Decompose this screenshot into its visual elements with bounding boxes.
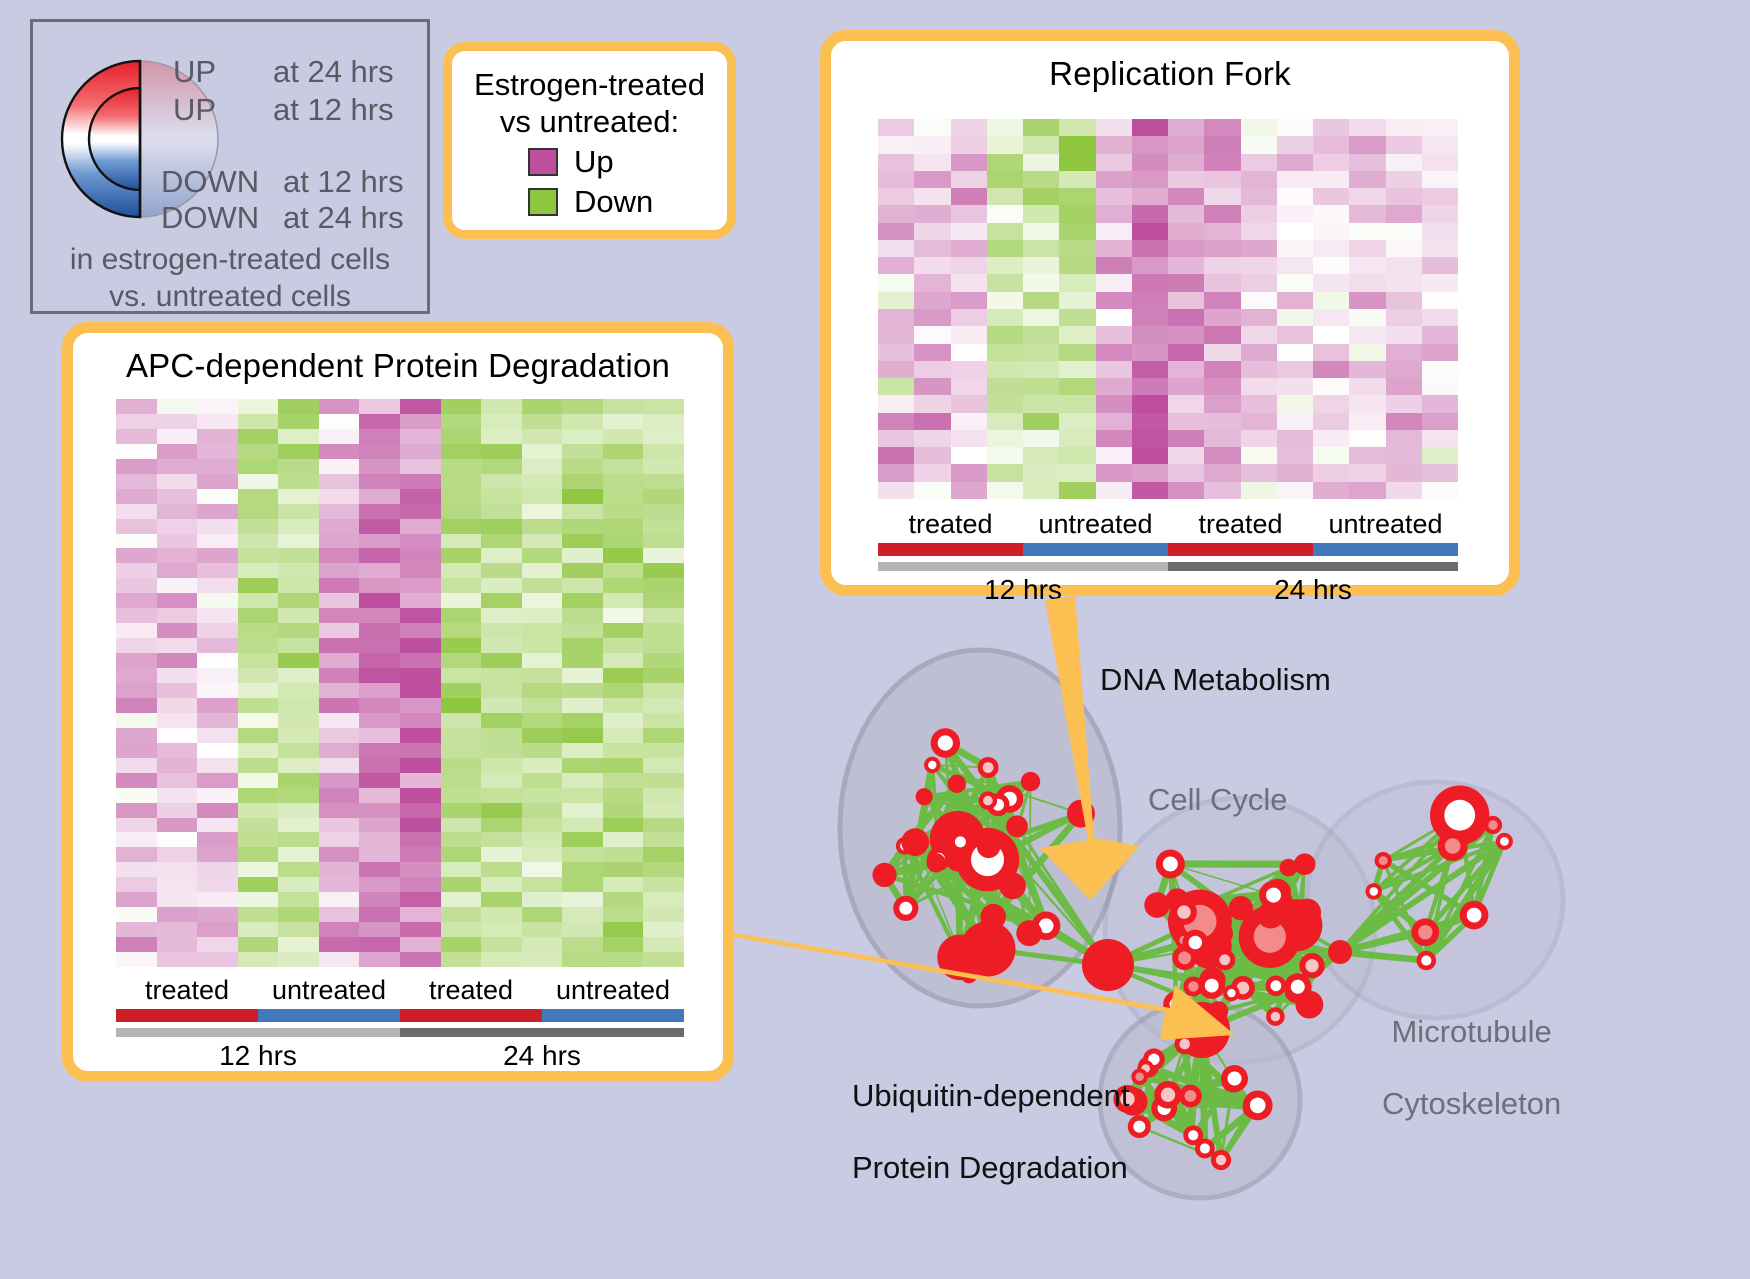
- heatmap-cell: [359, 743, 400, 758]
- heatmap-cell: [522, 877, 563, 892]
- heatmap-cell: [400, 578, 441, 593]
- heatmap-cell: [951, 136, 987, 153]
- network-node[interactable]: [1067, 800, 1095, 828]
- heatmap-cell: [951, 223, 987, 240]
- heatmap-cell: [603, 788, 644, 803]
- heatmap-cell: [643, 743, 684, 758]
- heatmap-cell: [1132, 240, 1168, 257]
- heatmap-cell: [1096, 292, 1132, 309]
- bar-untreated-24: [542, 1009, 684, 1022]
- heatmap-cell: [522, 788, 563, 803]
- heatmap-cell: [400, 399, 441, 414]
- heatmap-cell: [278, 743, 319, 758]
- heatmap-cell: [319, 593, 360, 608]
- heatmap-cell: [319, 832, 360, 847]
- heatmap-cell: [400, 892, 441, 907]
- heatmap-cell: [278, 832, 319, 847]
- heatmap-cell: [319, 818, 360, 833]
- heatmap-cell: [878, 344, 914, 361]
- heatmap-cell: [914, 447, 950, 464]
- heatmap-cell: [1313, 430, 1349, 447]
- heatmap-cell: [1204, 413, 1240, 430]
- heatmap-cell: [1349, 257, 1385, 274]
- bar-treated-24: [400, 1009, 542, 1022]
- heatmap-cell: [562, 623, 603, 638]
- network-node[interactable]: [1021, 772, 1040, 791]
- network-node[interactable]: [1016, 920, 1042, 946]
- network-node[interactable]: [948, 775, 966, 793]
- heatmap-cell: [562, 534, 603, 549]
- heatmap-cell: [562, 713, 603, 728]
- heatmap-cell: [441, 683, 482, 698]
- heatmap-cell: [197, 877, 238, 892]
- heatmap-cell: [1349, 274, 1385, 291]
- heatmap-cell: [914, 309, 950, 326]
- heatmap-cell: [1313, 257, 1349, 274]
- heatmap-cell: [951, 171, 987, 188]
- heatmap-cell: [481, 534, 522, 549]
- heatmap-cell: [278, 548, 319, 563]
- network-node-core: [1188, 1130, 1198, 1140]
- heatmap-cell: [441, 489, 482, 504]
- heatmap-cell: [1349, 171, 1385, 188]
- heatmap-cell: [522, 593, 563, 608]
- heatmap-cell: [522, 534, 563, 549]
- network-node[interactable]: [961, 967, 977, 983]
- network-node[interactable]: [1082, 939, 1134, 991]
- heatmap-cell: [987, 326, 1023, 343]
- heatmap-cell: [643, 922, 684, 937]
- heatmap-cell: [603, 668, 644, 683]
- heatmap-cell: [1422, 309, 1458, 326]
- group-color-bar-apc: [116, 1009, 684, 1022]
- heatmap-cell: [238, 519, 279, 534]
- network-node[interactable]: [916, 788, 933, 805]
- heatmap-cell: [1168, 240, 1204, 257]
- heatmap-cell: [1096, 447, 1132, 464]
- heatmap-cell: [1349, 205, 1385, 222]
- heatmap-cell: [1059, 136, 1095, 153]
- heatmap-cell: [562, 474, 603, 489]
- heatmap-cell: [1313, 119, 1349, 136]
- ubiquitin-line-2: Protein Degradation: [852, 1150, 1130, 1186]
- network-node-core: [1216, 1155, 1226, 1165]
- heatmap-cell: [1132, 205, 1168, 222]
- heatmap-cell: [157, 683, 198, 698]
- heatmap-cell: [643, 907, 684, 922]
- heatmap-cell: [481, 623, 522, 638]
- heatmap-cell: [522, 758, 563, 773]
- heatmap-cell: [481, 474, 522, 489]
- heatmap-cell: [441, 952, 482, 967]
- heatmap-cell: [400, 519, 441, 534]
- heatmap-cell: [1132, 464, 1168, 481]
- heatmap-cell: [1277, 326, 1313, 343]
- heatmap-cell: [522, 459, 563, 474]
- group-label-untreated-12: untreated: [258, 975, 400, 1006]
- heatmap-apc-dependent: [116, 399, 684, 967]
- heatmap-cell: [562, 489, 603, 504]
- heatmap-cell: [987, 274, 1023, 291]
- panel-title-apc: APC-dependent Protein Degradation: [73, 347, 723, 385]
- heatmap-cell: [319, 519, 360, 534]
- heatmap-cell: [643, 474, 684, 489]
- heatmap-cell: [441, 623, 482, 638]
- heatmap-cell: [1059, 464, 1095, 481]
- heatmap-cell: [1204, 395, 1240, 412]
- heatmap-cell: [1059, 205, 1095, 222]
- network-node-core: [1369, 887, 1378, 896]
- estrogen-color-legend-card: Estrogen-treated vs untreated: Up Down: [443, 42, 736, 239]
- heatmap-cell: [238, 399, 279, 414]
- heatmap-cell: [643, 713, 684, 728]
- heatmap-replication-fork: [878, 119, 1458, 499]
- heatmap-cell: [278, 877, 319, 892]
- heatmap-cell: [562, 444, 603, 459]
- heatmap-cell: [1277, 257, 1313, 274]
- heatmap-cell: [1277, 274, 1313, 291]
- heatmap-cell: [1059, 430, 1095, 447]
- heatmap-cell: [1313, 136, 1349, 153]
- heatmap-cell: [1422, 447, 1458, 464]
- heatmap-cell: [278, 608, 319, 623]
- estrogen-legend-title-line-1: Estrogen-treated: [452, 67, 727, 104]
- heatmap-cell: [400, 489, 441, 504]
- heatmap-cell: [562, 832, 603, 847]
- heatmap-cell: [643, 593, 684, 608]
- heatmap-cell: [951, 326, 987, 343]
- heatmap-cell: [1204, 205, 1240, 222]
- heatmap-cell: [1132, 119, 1168, 136]
- heatmap-cell: [481, 429, 522, 444]
- heatmap-cell: [278, 773, 319, 788]
- heatmap-cell: [197, 638, 238, 653]
- heatmap-cell: [1132, 223, 1168, 240]
- heatmap-cell: [1422, 344, 1458, 361]
- down-label: Down: [574, 184, 653, 220]
- heatmap-cell: [603, 922, 644, 937]
- heatmap-cell: [987, 447, 1023, 464]
- heatmap-cell: [1349, 344, 1385, 361]
- heatmap-cell: [603, 459, 644, 474]
- heatmap-cell: [603, 773, 644, 788]
- heatmap-cell: [1277, 188, 1313, 205]
- heatmap-cell: [951, 240, 987, 257]
- network-node[interactable]: [1208, 1001, 1228, 1021]
- network-node[interactable]: [1293, 899, 1321, 927]
- heatmap-cell: [1204, 223, 1240, 240]
- heatmap-cell: [643, 578, 684, 593]
- heatmap-cell: [1096, 119, 1132, 136]
- heatmap-cell: [319, 504, 360, 519]
- heatmap-cell: [400, 713, 441, 728]
- network-node[interactable]: [977, 835, 1001, 859]
- legend-time-down-12: at 12 hrs: [283, 164, 404, 200]
- heatmap-cell: [643, 608, 684, 623]
- heatmap-cell: [359, 803, 400, 818]
- legend-item-up: Up: [528, 144, 727, 180]
- heatmap-cell: [1132, 447, 1168, 464]
- heatmap-cell: [116, 399, 157, 414]
- network-node-core: [1445, 838, 1461, 854]
- cluster-label-ubiquitin-dependent-protein-degradation: Ubiquitin-dependent Protein Degradation: [852, 1042, 1130, 1222]
- bar-time-12: [116, 1028, 400, 1037]
- heatmap-cell: [1386, 136, 1422, 153]
- heatmap-cell: [400, 788, 441, 803]
- heatmap-cell: [441, 534, 482, 549]
- heatmap-cell: [603, 608, 644, 623]
- heatmap-cell: [1023, 274, 1059, 291]
- heatmap-cell: [278, 578, 319, 593]
- network-node[interactable]: [1294, 853, 1316, 875]
- heatmap-cell: [1096, 344, 1132, 361]
- heatmap-cell: [1168, 344, 1204, 361]
- heatmap-cell: [603, 489, 644, 504]
- panel-title-replication-fork: Replication Fork: [831, 55, 1509, 93]
- network-node[interactable]: [901, 828, 929, 856]
- heatmap-cell: [1132, 326, 1168, 343]
- heatmap-cell: [481, 788, 522, 803]
- heatmap-cell: [1349, 482, 1385, 499]
- heatmap-cell: [987, 136, 1023, 153]
- heatmap-cell: [878, 292, 914, 309]
- heatmap-cell: [278, 683, 319, 698]
- heatmap-cell: [157, 758, 198, 773]
- heatmap-cell: [319, 459, 360, 474]
- heatmap-cell: [359, 937, 400, 952]
- heatmap-cell: [1132, 309, 1168, 326]
- heatmap-cell: [197, 952, 238, 967]
- heatmap-cell: [522, 922, 563, 937]
- heatmap-cell: [603, 728, 644, 743]
- heatmap-cell: [238, 593, 279, 608]
- network-node-core: [1200, 1143, 1210, 1153]
- network-node[interactable]: [999, 872, 1026, 899]
- heatmap-cell: [1241, 447, 1277, 464]
- heatmap-cell: [197, 847, 238, 862]
- heatmap-cell: [951, 395, 987, 412]
- network-node[interactable]: [926, 853, 945, 872]
- heatmap-cell: [1096, 257, 1132, 274]
- heatmap-cell: [197, 818, 238, 833]
- heatmap-cell: [1277, 136, 1313, 153]
- heatmap-cell: [1023, 361, 1059, 378]
- heatmap-cell: [914, 119, 950, 136]
- heatmap-cell: [878, 205, 914, 222]
- heatmap-cell: [1386, 482, 1422, 499]
- heatmap-cell: [400, 548, 441, 563]
- heatmap-cell: [238, 728, 279, 743]
- heatmap-cell: [278, 459, 319, 474]
- legend-word-down-24: DOWN: [161, 200, 259, 236]
- heatmap-cell: [1313, 240, 1349, 257]
- heatmap-cell: [522, 803, 563, 818]
- heatmap-cell: [116, 907, 157, 922]
- heatmap-cell: [238, 459, 279, 474]
- network-node[interactable]: [1229, 896, 1253, 920]
- network-node[interactable]: [946, 849, 969, 872]
- heatmap-cell: [562, 773, 603, 788]
- time-color-bar-replication: [878, 562, 1458, 571]
- heatmap-cell: [278, 922, 319, 937]
- heatmap-cell: [914, 205, 950, 222]
- heatmap-cell: [522, 728, 563, 743]
- heatmap-cell: [197, 504, 238, 519]
- heatmap-cell: [987, 413, 1023, 430]
- heatmap-cell: [562, 593, 603, 608]
- heatmap-cell: [441, 548, 482, 563]
- heatmap-cell: [1349, 361, 1385, 378]
- group-label-untreated-24: untreated: [542, 975, 684, 1006]
- heatmap-cell: [878, 309, 914, 326]
- heatmap-cell: [238, 922, 279, 937]
- network-node[interactable]: [1006, 815, 1028, 837]
- heatmap-cell: [987, 378, 1023, 395]
- heatmap-cell: [481, 862, 522, 877]
- heatmap-cell: [1422, 274, 1458, 291]
- network-node[interactable]: [872, 863, 896, 887]
- heatmap-cell: [562, 937, 603, 952]
- network-node[interactable]: [980, 904, 1006, 930]
- heatmap-cell: [1059, 240, 1095, 257]
- heatmap-cell: [116, 444, 157, 459]
- heatmap-cell: [1096, 430, 1132, 447]
- heatmap-cell: [441, 578, 482, 593]
- heatmap-cell: [1386, 205, 1422, 222]
- heatmap-cell: [878, 119, 914, 136]
- heatmap-cell: [359, 474, 400, 489]
- heatmap-cell: [157, 937, 198, 952]
- heatmap-cell: [400, 862, 441, 877]
- heatmap-cell: [481, 668, 522, 683]
- heatmap-cell: [1313, 223, 1349, 240]
- heatmap-cell: [238, 429, 279, 444]
- heatmap-cell: [359, 668, 400, 683]
- heatmap-cell: [157, 548, 198, 563]
- heatmap-cell: [987, 205, 1023, 222]
- heatmap-cell: [1386, 361, 1422, 378]
- heatmap-cell: [238, 623, 279, 638]
- heatmap-cell: [116, 504, 157, 519]
- network-node-core: [1188, 981, 1198, 991]
- heatmap-cell: [1204, 188, 1240, 205]
- heatmap-cell: [197, 548, 238, 563]
- heatmap-cell: [1204, 292, 1240, 309]
- heatmap-cell: [1277, 223, 1313, 240]
- heatmap-cell: [643, 892, 684, 907]
- heatmap-cell: [1386, 413, 1422, 430]
- heatmap-cell: [157, 698, 198, 713]
- heatmap-cell: [1313, 344, 1349, 361]
- heatmap-cell: [278, 623, 319, 638]
- network-node[interactable]: [1144, 892, 1170, 918]
- heatmap-cell: [238, 803, 279, 818]
- heatmap-cell: [197, 534, 238, 549]
- heatmap-cell: [441, 788, 482, 803]
- heatmap-cell: [1313, 171, 1349, 188]
- heatmap-cell: [116, 847, 157, 862]
- heatmap-cell: [1422, 378, 1458, 395]
- heatmap-cell: [1168, 171, 1204, 188]
- heatmap-cell: [1168, 482, 1204, 499]
- heatmap-cell: [878, 482, 914, 499]
- network-node-core: [1250, 1098, 1266, 1114]
- heatmap-cell: [1204, 464, 1240, 481]
- heatmap-cell: [1132, 171, 1168, 188]
- heatmap-cell: [562, 862, 603, 877]
- heatmap-cell: [1168, 361, 1204, 378]
- heatmap-cell: [319, 653, 360, 668]
- heatmap-cell: [278, 862, 319, 877]
- heatmap-cell: [878, 171, 914, 188]
- heatmap-cell: [603, 698, 644, 713]
- heatmap-cell: [359, 877, 400, 892]
- heatmap-cell: [522, 638, 563, 653]
- heatmap-cell: [987, 154, 1023, 171]
- heatmap-cell: [197, 563, 238, 578]
- heatmap-cell: [116, 563, 157, 578]
- heatmap-cell: [359, 489, 400, 504]
- heatmap-cell: [1204, 326, 1240, 343]
- heatmap-cell: [878, 464, 914, 481]
- heatmap-cell: [643, 668, 684, 683]
- group-label-treated-12: treated: [116, 975, 258, 1006]
- network-node-core: [1500, 837, 1509, 846]
- heatmap-cell: [197, 578, 238, 593]
- heatmap-cell: [878, 378, 914, 395]
- heatmap-cell: [400, 818, 441, 833]
- heatmap-cell: [319, 728, 360, 743]
- heatmap-cell: [1241, 292, 1277, 309]
- heatmap-cell: [157, 907, 198, 922]
- heatmap-cell: [238, 414, 279, 429]
- heatmap-cell: [603, 578, 644, 593]
- cluster-label-microtubule-cytoskeleton: Microtubule Cytoskeleton: [1382, 978, 1561, 1158]
- heatmap-cell: [238, 504, 279, 519]
- heatmap-cell: [643, 683, 684, 698]
- heatmap-cell: [914, 413, 950, 430]
- heatmap-cell: [1023, 240, 1059, 257]
- heatmap-cell: [359, 414, 400, 429]
- heatmap-cell: [197, 922, 238, 937]
- heatmap-cell: [1132, 154, 1168, 171]
- heatmap-cell: [1023, 395, 1059, 412]
- heatmap-cell: [1241, 309, 1277, 326]
- heatmap-cell: [1059, 378, 1095, 395]
- heatmap-cell: [1241, 395, 1277, 412]
- heatmap-cell: [278, 788, 319, 803]
- heatmap-cell: [1241, 430, 1277, 447]
- heatmap-cell: [319, 758, 360, 773]
- heatmap-cell: [1168, 378, 1204, 395]
- network-node[interactable]: [1328, 940, 1352, 964]
- annotation-replication-fork: treated untreated treated untreated 12 h…: [878, 509, 1458, 606]
- heatmap-cell: [1313, 188, 1349, 205]
- heatmap-cell: [1168, 274, 1204, 291]
- heatmap-cell: [481, 832, 522, 847]
- heatmap-cell: [643, 459, 684, 474]
- heatmap-cell: [1241, 378, 1277, 395]
- heatmap-cell: [116, 653, 157, 668]
- panel-apc-dependent-protein-degradation: APC-dependent Protein Degradation treate…: [62, 322, 734, 1082]
- heatmap-cell: [1096, 136, 1132, 153]
- heatmap-cell: [522, 713, 563, 728]
- heatmap-cell: [238, 653, 279, 668]
- network-node-core: [1227, 989, 1235, 997]
- heatmap-cell: [278, 952, 319, 967]
- heatmap-cell: [238, 907, 279, 922]
- heatmap-cell: [522, 474, 563, 489]
